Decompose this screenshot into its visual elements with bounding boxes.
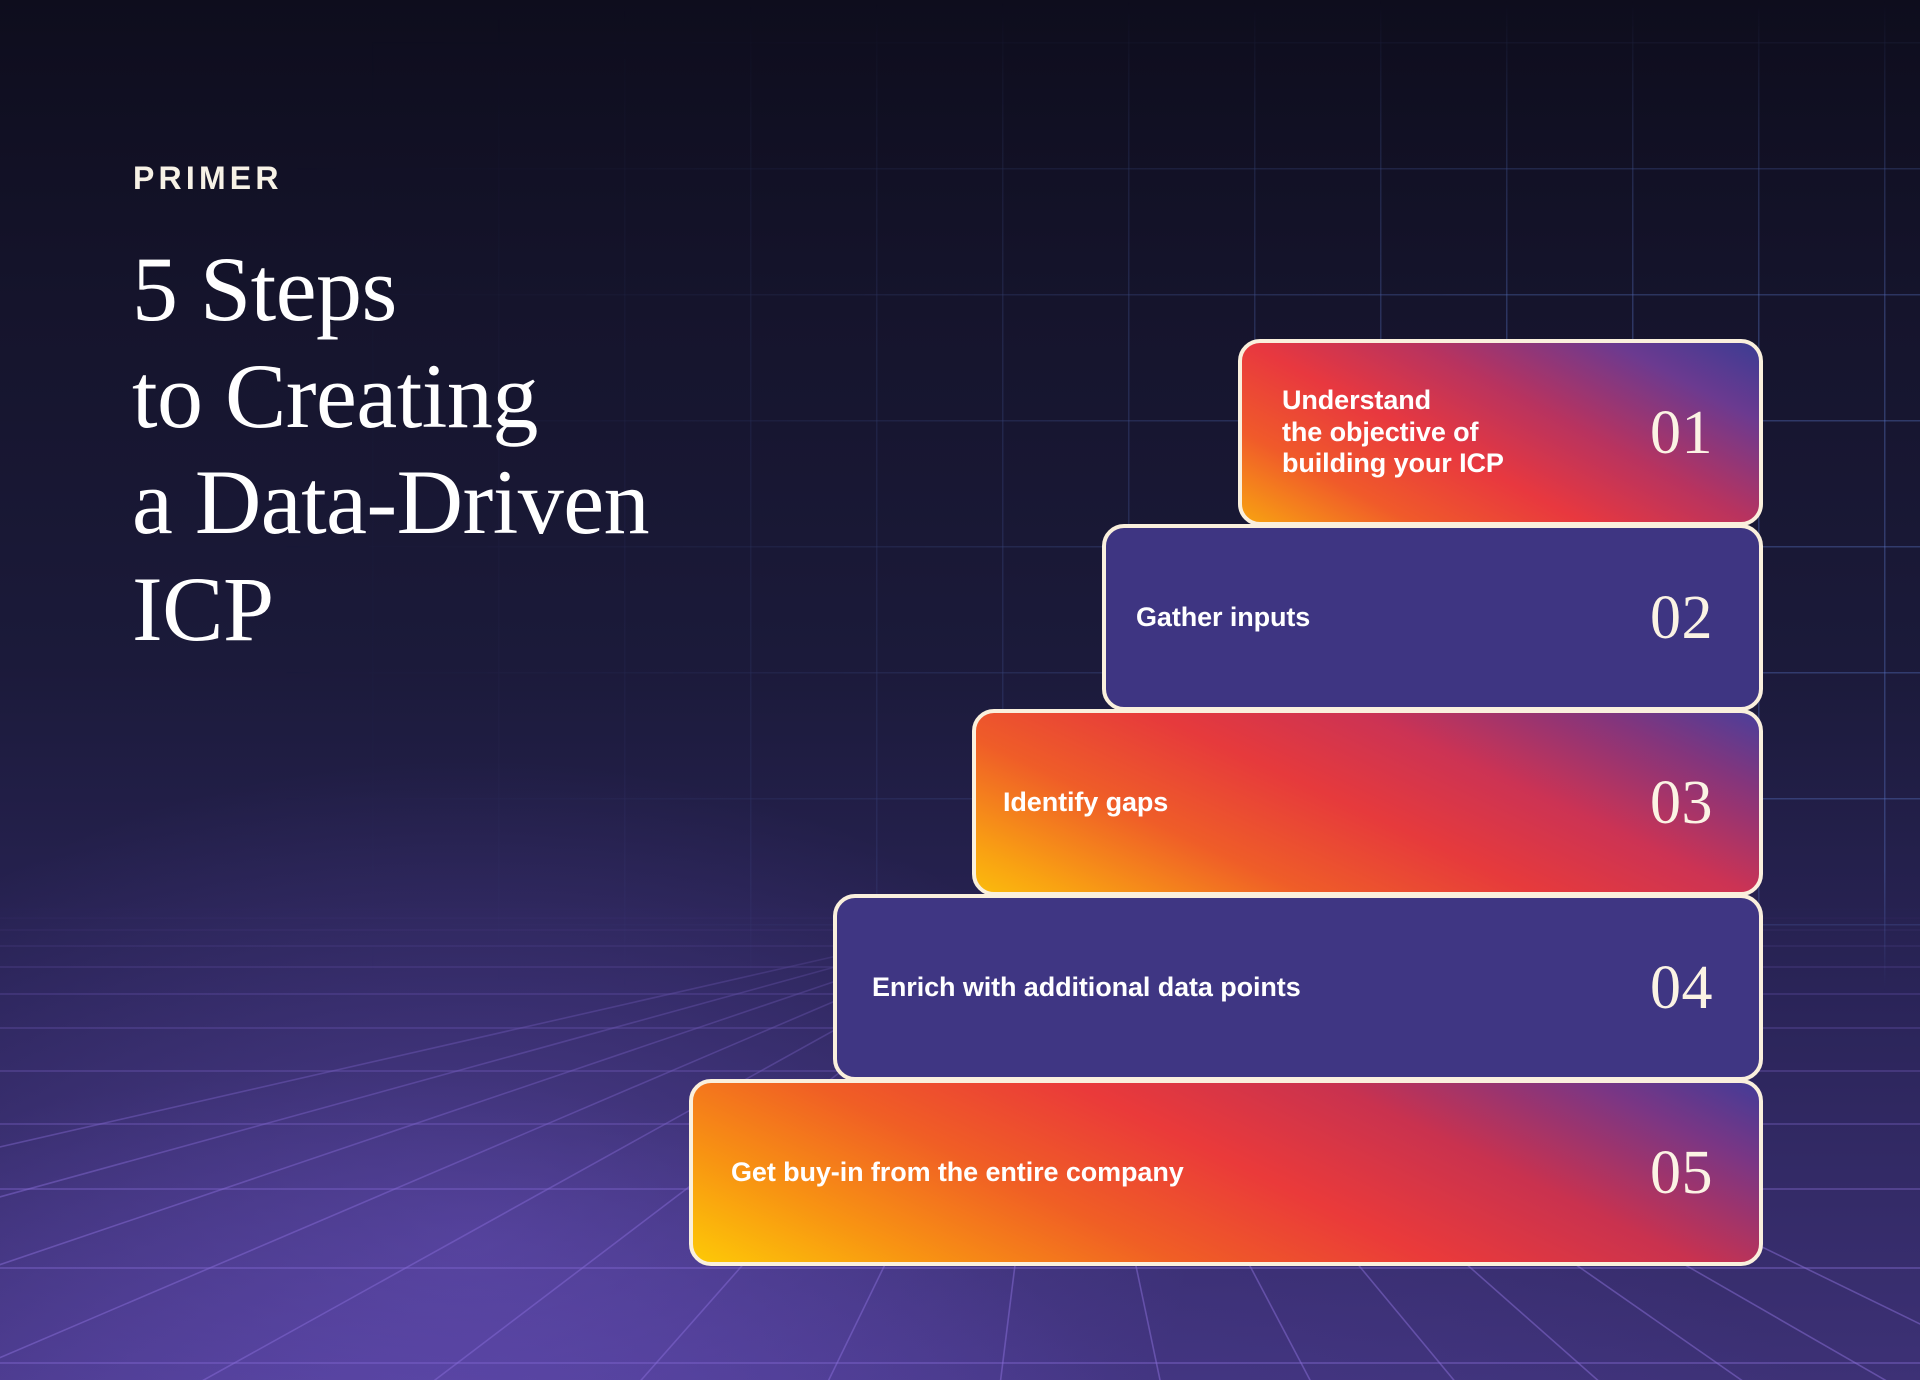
infographic-canvas: PRIMER 5 Steps to Creating a Data-Driven… (0, 0, 1920, 1380)
step-label-01: Understand the objective of building you… (1282, 385, 1504, 481)
step-number-04: 04 (1650, 957, 1713, 1019)
page-title: 5 Steps to Creating a Data-Driven ICP (132, 236, 892, 663)
step-label-04: Enrich with additional data points (872, 972, 1301, 1004)
step-label-05: Get buy-in from the entire company (731, 1157, 1184, 1189)
title-line-1: 5 Steps (132, 236, 892, 343)
step-card-04[interactable]: Enrich with additional data points 04 (833, 894, 1763, 1081)
step-card-02[interactable]: Gather inputs 02 (1102, 524, 1763, 711)
step-label-03: Identify gaps (1003, 787, 1168, 819)
steps-staircase: Understand the objective of building you… (0, 0, 1920, 1380)
step-number-02: 02 (1650, 587, 1713, 649)
step-number-01: 01 (1650, 402, 1713, 464)
step-card-01[interactable]: Understand the objective of building you… (1238, 339, 1763, 526)
title-line-3: a Data-Driven (132, 449, 892, 556)
step-card-05[interactable]: Get buy-in from the entire company 05 (689, 1079, 1763, 1266)
title-line-4: ICP (132, 556, 892, 663)
step-number-03: 03 (1650, 772, 1713, 834)
step-card-03[interactable]: Identify gaps 03 (972, 709, 1763, 896)
title-line-2: to Creating (132, 343, 892, 450)
brand-logo: PRIMER (133, 160, 283, 197)
step-label-02: Gather inputs (1136, 602, 1310, 634)
step-number-05: 05 (1650, 1142, 1713, 1204)
